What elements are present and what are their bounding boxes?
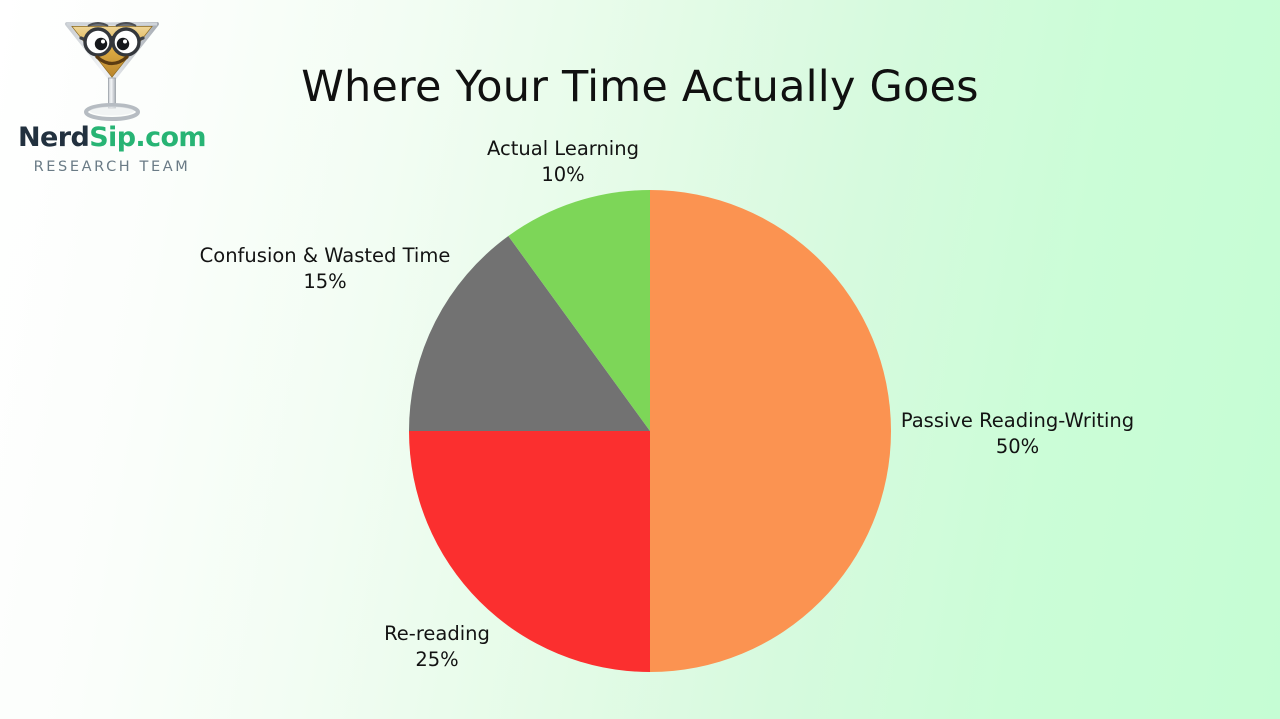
slice-label-passive-name: Passive Reading-Writing (901, 409, 1134, 432)
slice-label-confusion: Confusion & Wasted Time 15% (170, 243, 480, 295)
slice-label-rereading-name: Re-reading (384, 622, 490, 645)
slice-label-rereading: Re-reading 25% (337, 621, 537, 673)
pie-chart-svg (0, 0, 1280, 719)
slice-label-confusion-pct: 15% (170, 269, 480, 295)
slice-label-passive-pct: 50% (880, 434, 1155, 460)
slice-label-rereading-pct: 25% (337, 647, 537, 673)
pie-slice-passive-reading-writing[interactable] (650, 190, 891, 672)
slice-label-actual-learning: Actual Learning 10% (438, 136, 688, 188)
pie-chart (0, 0, 1280, 719)
slice-label-confusion-name: Confusion & Wasted Time (200, 244, 451, 267)
slide-canvas: NerdSip.com RESEARCH TEAM Where Your Tim… (0, 0, 1280, 719)
slice-label-passive-reading-writing: Passive Reading-Writing 50% (880, 408, 1155, 460)
pie-slice-group (409, 190, 891, 672)
slice-label-actual-learning-name: Actual Learning (487, 137, 639, 160)
slice-label-actual-learning-pct: 10% (438, 162, 688, 188)
